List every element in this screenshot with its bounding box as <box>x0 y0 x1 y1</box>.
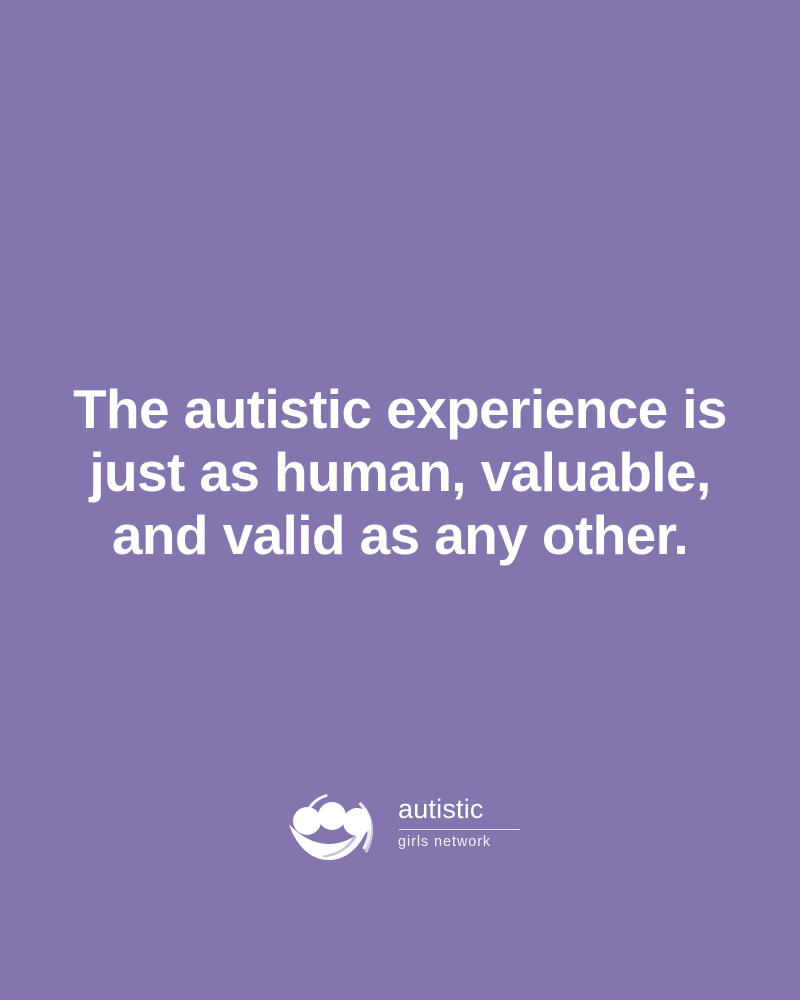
brand-logo: autistic girls network <box>283 786 523 862</box>
quote-line-1: The autistic experience is <box>0 378 800 441</box>
logo-wordmark: autistic girls network <box>398 794 523 850</box>
quote-line-2: just as human, valuable, <box>0 441 800 504</box>
logo-divider <box>399 829 520 830</box>
quote-block: The autistic experience is just as human… <box>0 378 800 567</box>
logo-name: autistic <box>398 794 523 824</box>
quote-line-3: and valid as any other. <box>0 504 800 567</box>
logo-tagline: girls network <box>398 834 523 850</box>
quote-card: The autistic experience is just as human… <box>0 0 800 1000</box>
three-circles-over-crescent-icon <box>283 786 383 862</box>
